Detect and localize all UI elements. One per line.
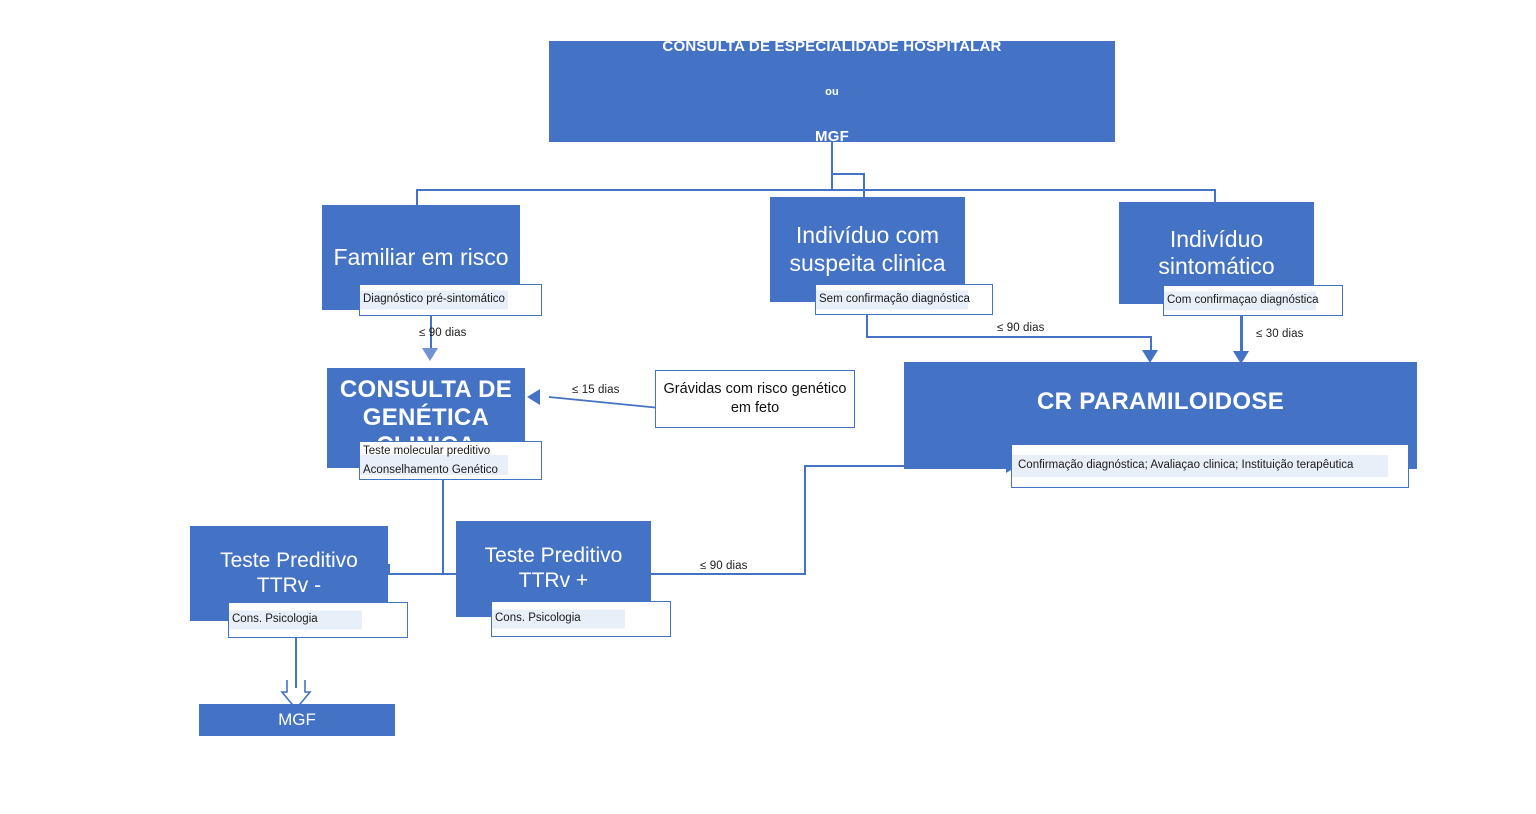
node-top-line1: CONSULTA DE ESPECIALIDADE HOSPITALAR <box>549 36 1115 58</box>
edge-label-sintomatico-to-cr: ≤ 30 dias <box>1256 328 1304 340</box>
connector-leg-suspeita <box>863 189 865 197</box>
node-teste-preditivo-ttrv-positivo-label: Teste Preditivo TTRv + <box>456 544 651 594</box>
connector-distribution-bus <box>416 189 1215 191</box>
edge-label-familiar-to-genetica: ≤ 90 dias <box>419 327 467 339</box>
note-cr-actions: Confirmação diagnóstica; Avaliaçao clini… <box>1011 444 1409 488</box>
note-diagnostico-pre-sintomatico-text: Diagnóstico pré-sintomático <box>360 291 505 309</box>
connector-genetica-stem <box>442 480 444 574</box>
connector-ttrvpos-run1 <box>651 573 805 575</box>
node-top-line2: ou <box>549 85 1115 101</box>
node-teste-preditivo-ttrv-negativo-label: Teste Preditivo TTRv - <box>190 549 388 599</box>
callout-gravidas-risco-genetico: Grávidas com risco genético em feto <box>655 370 855 428</box>
note-cons-psicologia-negativo: Cons. Psicologia <box>228 602 408 638</box>
note-cons-psicologia-positivo-text: Cons. Psicologia <box>492 610 581 628</box>
node-individuo-suspeita-clinica-label: Indivíduo com suspeita clinica <box>770 222 965 276</box>
node-top-line3: MGF <box>549 126 1115 148</box>
arrowhead-familiar-to-genetica <box>422 348 438 361</box>
edge-label-ttrvpos-to-cr: ≤ 90 dias <box>700 560 748 572</box>
note-cons-psicologia-negativo-text: Cons. Psicologia <box>229 611 318 629</box>
note-com-confirmacao-diagnostica-text: Com confirmaçao diagnóstica <box>1164 292 1319 310</box>
note-com-confirmacao-diagnostica: Com confirmaçao diagnóstica <box>1163 285 1343 316</box>
node-familiar-em-risco-label: Familiar em risco <box>322 244 520 271</box>
node-mgf[interactable]: MGF <box>199 704 395 736</box>
note-genetica-actions-text: Teste molecular preditivo Aconselhamento… <box>360 441 498 479</box>
note-diagnostico-pre-sintomatico: Diagnóstico pré-sintomático <box>359 284 542 316</box>
note-genetica-actions: Teste molecular preditivo Aconselhamento… <box>359 441 542 480</box>
node-cr-paramiloidose-label: CR PARAMILOIDOSE <box>904 388 1417 442</box>
note-sem-confirmacao-diagnostica-text: Sem confirmação diagnóstica <box>816 291 970 309</box>
connector-ttrvpos-rise <box>804 465 806 575</box>
note-cons-psicologia-positivo: Cons. Psicologia <box>491 601 671 637</box>
node-individuo-sintomatico-label: Indivíduo sintomático <box>1119 226 1314 280</box>
node-mgf-label: MGF <box>199 710 395 730</box>
edge-label-suspeita-to-cr: ≤ 90 dias <box>997 322 1045 334</box>
connector-sintomatico-to-cr <box>1240 313 1243 355</box>
note-cr-actions-text: Confirmação diagnóstica; Avaliaçao clini… <box>1012 457 1353 475</box>
connector-suspeita-run <box>866 336 1151 338</box>
arrowhead-gravidas-to-genetica <box>527 389 540 405</box>
callout-gravidas-risco-genetico-text: Grávidas com risco genético em feto <box>664 380 847 418</box>
connector-split-left <box>388 564 390 574</box>
edge-label-gravidas-to-genetica: ≤ 15 dias <box>572 384 620 396</box>
flowchart-canvas: ≤ 90 dias ≤ 15 dias ≤ 90 dias ≤ 30 dias … <box>0 0 1536 814</box>
node-consulta-especialidade-hospitalar[interactable]: CONSULTA DE ESPECIALIDADE HOSPITALAR ou … <box>549 41 1115 142</box>
note-sem-confirmacao-diagnostica: Sem confirmação diagnóstica <box>815 284 993 315</box>
connector-top-tee-top <box>831 173 865 175</box>
